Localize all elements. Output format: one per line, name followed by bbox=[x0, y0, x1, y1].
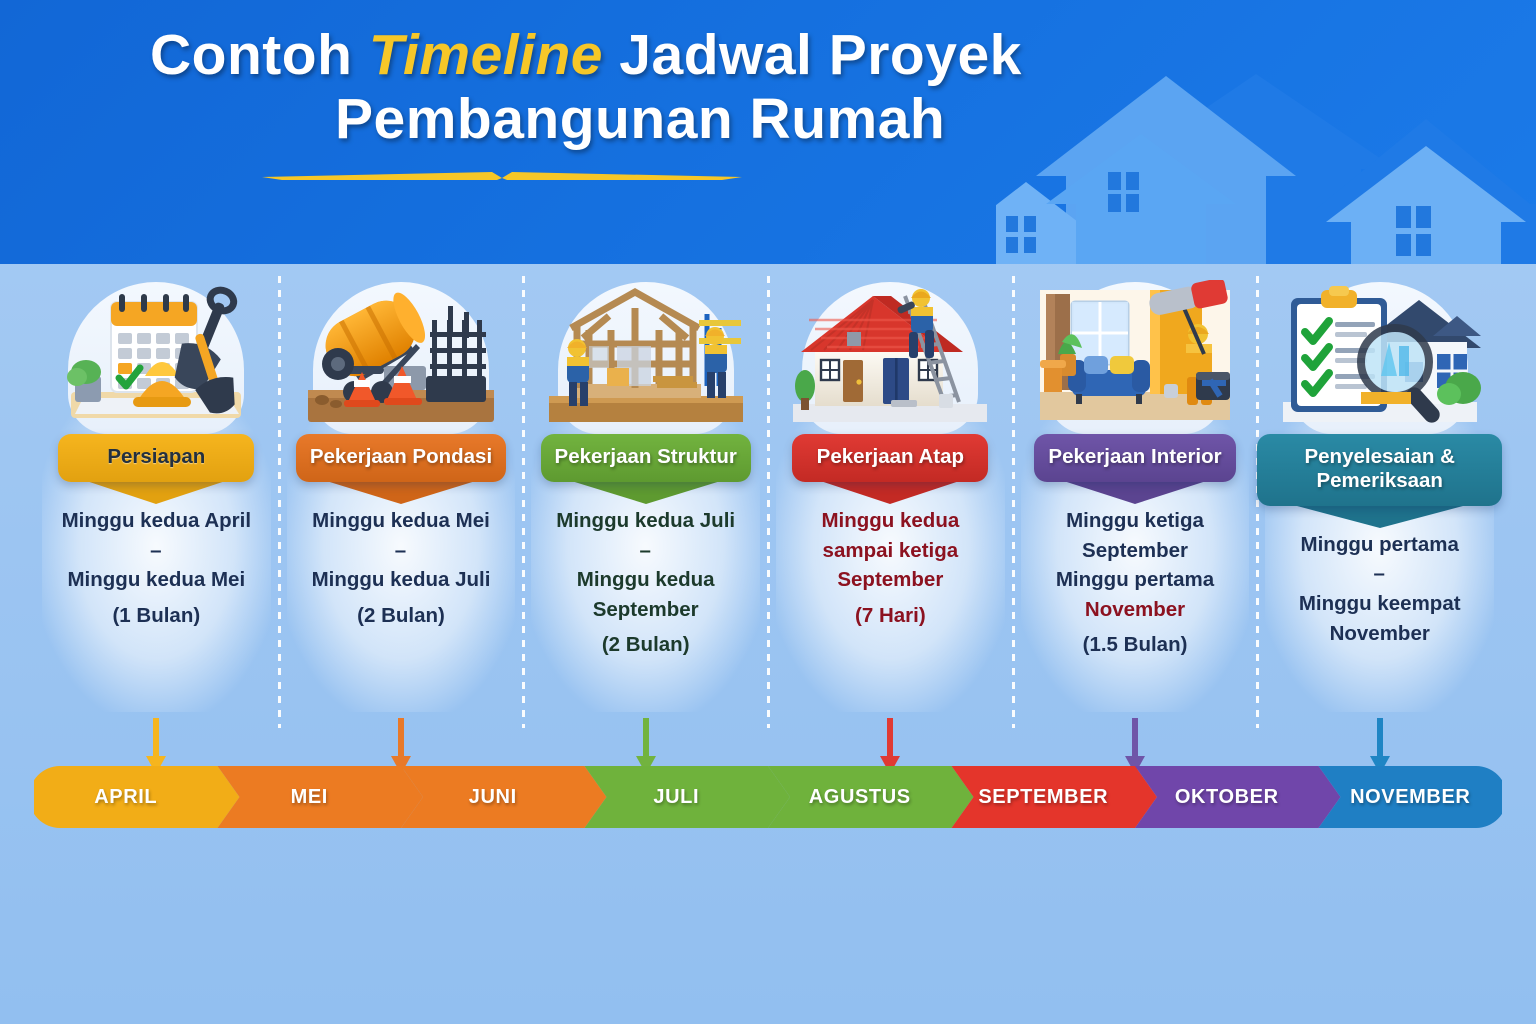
phase-date-line: – bbox=[285, 536, 518, 566]
phase-date-line: November bbox=[1263, 619, 1496, 649]
phase-banner-label: Pekerjaan Interior bbox=[1034, 434, 1235, 482]
phase-column-2[interactable]: Pekerjaan PondasiMinggu kedua Mei–Minggu… bbox=[279, 272, 524, 742]
phase-dates: Minggu kedua Juli–Minggu keduaSeptember(… bbox=[523, 506, 768, 657]
page-title: Contoh Timeline Jadwal Proyek Pembanguna… bbox=[150, 24, 1150, 152]
phase-columns: PersiapanMinggu kedua April–Minggu kedua… bbox=[34, 272, 1502, 742]
phase-date-line: September bbox=[774, 565, 1007, 595]
phase-dates: Minggu ketigaSeptemberMinggu pertamaNove… bbox=[1013, 506, 1258, 657]
phase-banner-tail bbox=[818, 480, 963, 504]
phase-date-line: November bbox=[1019, 595, 1252, 625]
phase-date-line: September bbox=[529, 595, 762, 625]
phase-duration: (1.5 Bulan) bbox=[1019, 633, 1252, 657]
phase-duration: (2 Bulan) bbox=[285, 604, 518, 628]
title-part-1: Contoh bbox=[150, 23, 369, 87]
title-accent: Timeline bbox=[369, 23, 603, 87]
phase-date-line: – bbox=[1263, 559, 1496, 589]
phase-banner-tail bbox=[1289, 504, 1470, 528]
phase-dates: Minggu pertama–Minggu keempatNovember bbox=[1257, 530, 1502, 648]
title-line-2: Pembangunan Rumah bbox=[150, 88, 1150, 152]
phase-duration: (7 Hari) bbox=[774, 604, 1007, 628]
phase-date-line: September bbox=[1019, 536, 1252, 566]
phase-column-1[interactable]: PersiapanMinggu kedua April–Minggu kedua… bbox=[34, 272, 279, 742]
phase-date-line: – bbox=[40, 536, 273, 566]
roof-worker-ladder-icon bbox=[787, 280, 993, 440]
phase-dates: Minggu kedua Mei–Minggu kedua Juli(2 Bul… bbox=[279, 506, 524, 628]
phase-banner-label: Pekerjaan Atap bbox=[792, 434, 988, 482]
phase-date-line: Minggu kedua Mei bbox=[285, 506, 518, 536]
phase-banner-tail bbox=[568, 480, 724, 504]
phase-column-6[interactable]: Penyelesaian & PemeriksaanMinggu pertama… bbox=[1257, 272, 1502, 742]
phase-banner[interactable]: Penyelesaian & Pemeriksaan bbox=[1257, 434, 1502, 506]
phase-dates: Minggu kedua April–Minggu kedua Mei(1 Bu… bbox=[34, 506, 279, 628]
checklist-magnifier-house-icon bbox=[1277, 280, 1483, 440]
phase-date-line: Minggu kedua April bbox=[40, 506, 273, 536]
month-timeline-bar: APRILMEIJUNIJULIAGUSTUSSEPTEMBEROKTOBERN… bbox=[34, 766, 1502, 828]
phase-duration: (2 Bulan) bbox=[529, 633, 762, 657]
title-underline-decoration bbox=[262, 170, 742, 182]
phase-column-5[interactable]: Pekerjaan InteriorMinggu ketigaSeptember… bbox=[1013, 272, 1258, 742]
phase-date-line: Minggu kedua Juli bbox=[285, 565, 518, 595]
phase-banner-label: Persiapan bbox=[58, 434, 254, 482]
phase-banner[interactable]: Pekerjaan Pondasi bbox=[279, 434, 524, 482]
phase-banner-label: Pekerjaan Pondasi bbox=[296, 434, 506, 482]
phase-duration: (1 Bulan) bbox=[40, 604, 273, 628]
phase-banner-tail bbox=[1061, 480, 1210, 504]
phase-banner[interactable]: Pekerjaan Atap bbox=[768, 434, 1013, 482]
phase-date-line: Minggu keempat bbox=[1263, 589, 1496, 619]
title-line-1: Contoh Timeline Jadwal Proyek bbox=[150, 24, 1150, 88]
phase-date-line: Minggu kedua Juli bbox=[529, 506, 762, 536]
calendar-hardhat-shovel-icon bbox=[53, 280, 259, 440]
phase-banner[interactable]: Pekerjaan Struktur bbox=[523, 434, 768, 482]
phase-banner[interactable]: Pekerjaan Interior bbox=[1013, 434, 1258, 482]
phase-date-line: Minggu kedua bbox=[774, 506, 1007, 536]
phase-date-line: Minggu kedua Mei bbox=[40, 565, 273, 595]
house-frame-workers-icon bbox=[543, 280, 749, 440]
phase-column-4[interactable]: Pekerjaan AtapMinggu keduasampai ketigaS… bbox=[768, 272, 1013, 742]
phase-banner-tail bbox=[84, 480, 229, 504]
phase-date-line: – bbox=[529, 536, 762, 566]
phase-date-line: Minggu pertama bbox=[1019, 565, 1252, 595]
phase-date-line: sampai ketiga bbox=[774, 536, 1007, 566]
phase-banner-label: Pekerjaan Struktur bbox=[541, 434, 751, 482]
cement-mixer-rebar-icon bbox=[298, 280, 504, 440]
page-header: Contoh Timeline Jadwal Proyek Pembanguna… bbox=[0, 0, 1536, 264]
phase-dates: Minggu keduasampai ketigaSeptember(7 Har… bbox=[768, 506, 1013, 628]
phase-date-line: Minggu ketiga bbox=[1019, 506, 1252, 536]
phase-banner-tail bbox=[323, 480, 479, 504]
living-room-painter-icon bbox=[1032, 280, 1238, 440]
phase-banner[interactable]: Persiapan bbox=[34, 434, 279, 482]
title-part-2: Jadwal Proyek bbox=[603, 23, 1022, 87]
phase-date-line: Minggu kedua bbox=[529, 565, 762, 595]
phase-column-3[interactable]: Pekerjaan StrukturMinggu kedua Juli–Ming… bbox=[523, 272, 768, 742]
phase-date-line: Minggu pertama bbox=[1263, 530, 1496, 560]
phase-banner-label: Penyelesaian & Pemeriksaan bbox=[1257, 434, 1502, 506]
